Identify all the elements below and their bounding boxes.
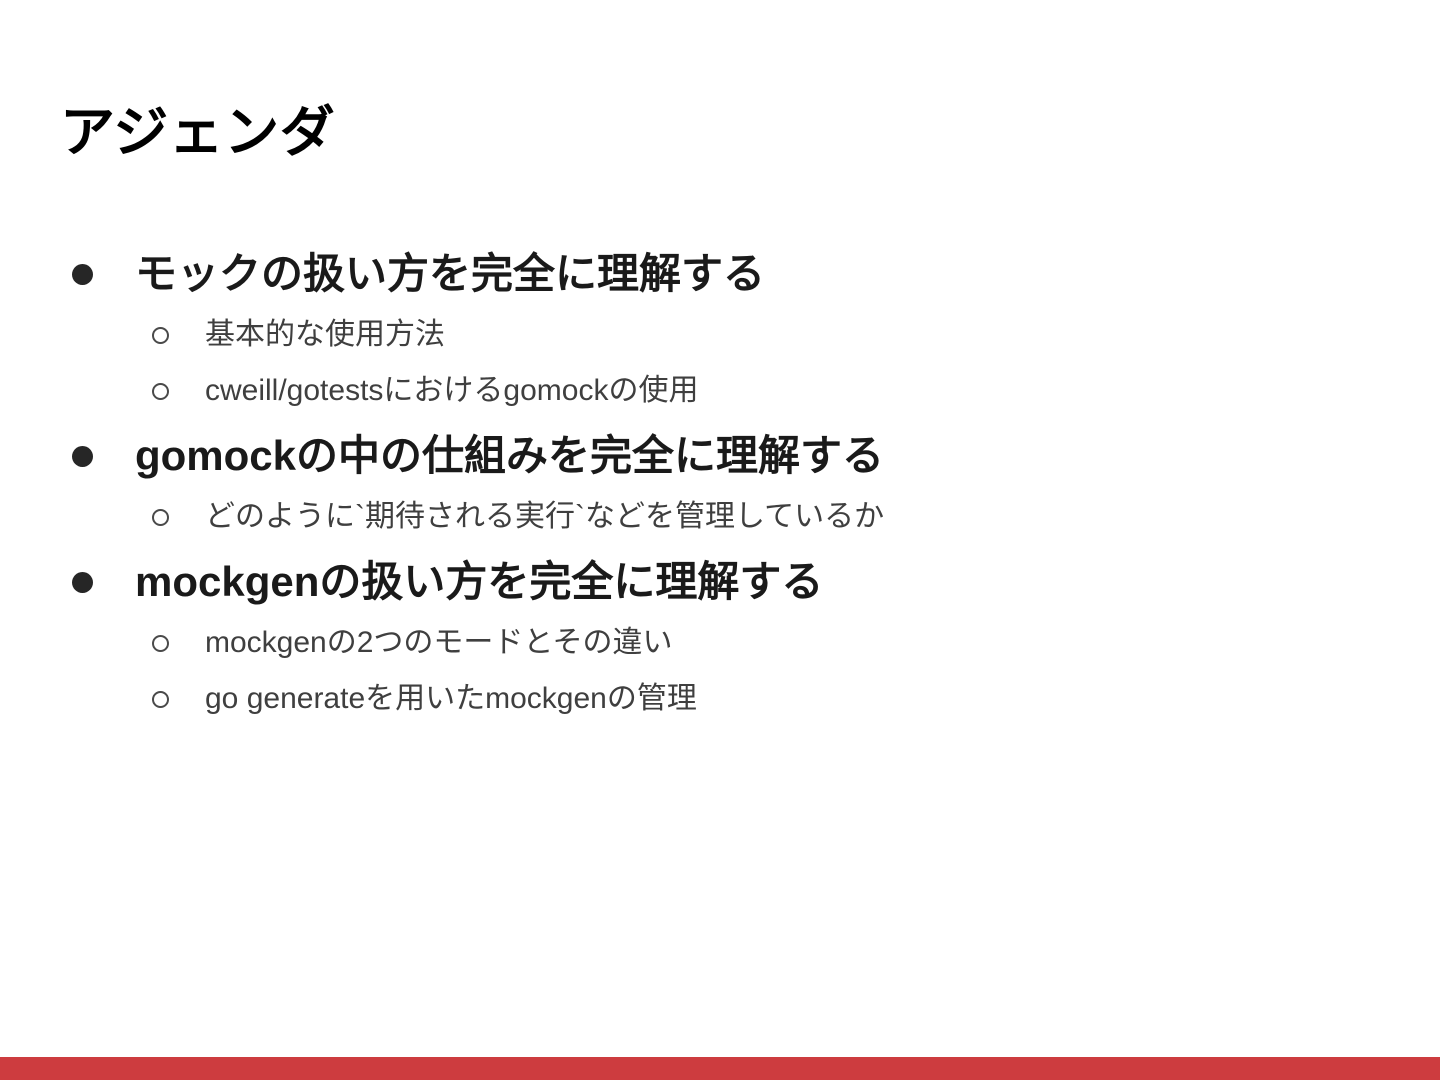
hollow-circle-bullet-icon bbox=[60, 368, 205, 414]
hollow-circle-bullet-icon bbox=[60, 312, 205, 358]
page-title: アジェンダ bbox=[60, 100, 335, 164]
list-item-label: mockgenの2つのモードとその違い bbox=[205, 620, 673, 666]
hollow-circle-bullet-icon bbox=[60, 620, 205, 666]
list-item-label: go generateを用いたmockgenの管理 bbox=[205, 676, 697, 722]
agenda-list: モックの扱い方を完全に理解する 基本的な使用方法 cweill/gotestsに… bbox=[60, 246, 1360, 732]
agenda-group: モックの扱い方を完全に理解する 基本的な使用方法 cweill/gotestsに… bbox=[60, 246, 1360, 414]
list-item-label: 基本的な使用方法 bbox=[205, 312, 445, 358]
list-item[interactable]: mockgenの扱い方を完全に理解する bbox=[60, 554, 1360, 610]
agenda-group: mockgenの扱い方を完全に理解する mockgenの2つのモードとその違い … bbox=[60, 554, 1360, 722]
list-item[interactable]: go generateを用いたmockgenの管理 bbox=[60, 676, 1360, 722]
agenda-sub-list: どのように`期待される実行`などを管理しているか bbox=[60, 494, 1360, 540]
agenda-sub-list: mockgenの2つのモードとその違い go generateを用いたmockg… bbox=[60, 620, 1360, 722]
slide-canvas: アジェンダ モックの扱い方を完全に理解する 基本的な使用方法 bbox=[0, 0, 1440, 1080]
list-item[interactable]: cweill/gotestsにおけるgomockの使用 bbox=[60, 368, 1360, 414]
hollow-circle-bullet-icon bbox=[60, 494, 205, 540]
agenda-group: gomockの中の仕組みを完全に理解する どのように`期待される実行`などを管理… bbox=[60, 428, 1360, 540]
list-item-label: mockgenの扱い方を完全に理解する bbox=[135, 554, 823, 610]
filled-circle-bullet-icon bbox=[60, 428, 135, 484]
list-item[interactable]: 基本的な使用方法 bbox=[60, 312, 1360, 358]
filled-circle-bullet-icon bbox=[60, 554, 135, 610]
hollow-circle-bullet-icon bbox=[60, 676, 205, 722]
list-item[interactable]: gomockの中の仕組みを完全に理解する bbox=[60, 428, 1360, 484]
filled-circle-bullet-icon bbox=[60, 246, 135, 302]
list-item-label: gomockの中の仕組みを完全に理解する bbox=[135, 428, 884, 484]
list-item-label: どのように`期待される実行`などを管理しているか bbox=[205, 494, 884, 540]
list-item-label: モックの扱い方を完全に理解する bbox=[135, 246, 765, 302]
list-item-label: cweill/gotestsにおけるgomockの使用 bbox=[205, 368, 698, 414]
list-item[interactable]: モックの扱い方を完全に理解する bbox=[60, 246, 1360, 302]
list-item[interactable]: mockgenの2つのモードとその違い bbox=[60, 620, 1360, 666]
list-item[interactable]: どのように`期待される実行`などを管理しているか bbox=[60, 494, 1360, 540]
agenda-sub-list: 基本的な使用方法 cweill/gotestsにおけるgomockの使用 bbox=[60, 312, 1360, 414]
accent-bar bbox=[0, 1057, 1440, 1080]
